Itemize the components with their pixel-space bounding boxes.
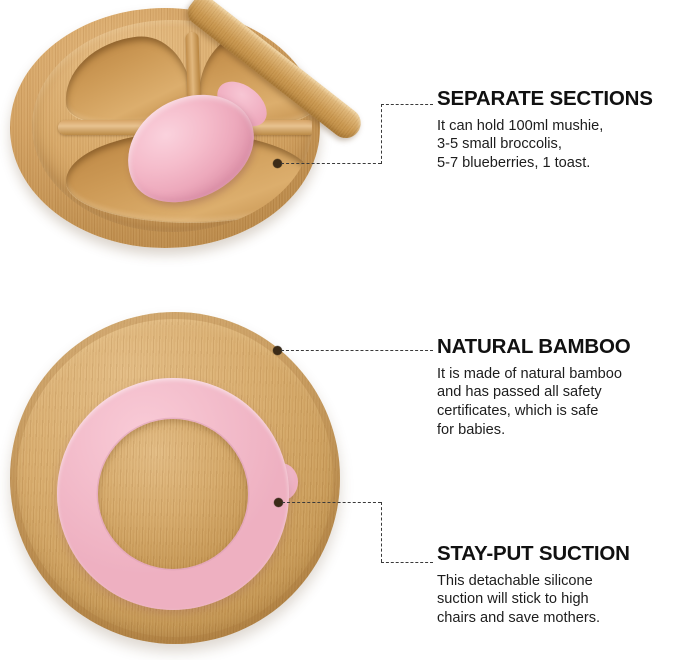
bamboo-grain-texture-center bbox=[98, 419, 248, 569]
plate-body bbox=[10, 8, 320, 248]
leader-line-3-segment-horizontal-lower bbox=[381, 562, 433, 563]
callout-body-stay-put-suction: This detachable silicone suction will st… bbox=[437, 572, 679, 629]
suction-ring-inner-opening bbox=[98, 419, 248, 569]
leader-line-1-segment-horizontal-upper bbox=[381, 104, 433, 105]
product-photo-plate-top-view bbox=[0, 2, 360, 287]
callout-body-line: 3-5 small broccolis, bbox=[437, 135, 679, 154]
callout-title-natural-bamboo: NATURAL BAMBOO bbox=[437, 336, 679, 358]
leader-line-3-segment-horizontal-upper bbox=[282, 502, 381, 503]
product-photo-plate-underside-view bbox=[2, 300, 352, 658]
callout-body-line: 5-7 blueberries, 1 toast. bbox=[437, 154, 679, 173]
callout-block-stay-put-suction: STAY-PUT SUCTION This detachable silicon… bbox=[437, 543, 679, 628]
callout-body-line: It can hold 100ml mushie, bbox=[437, 117, 679, 136]
divider-ridge-horizontal bbox=[58, 120, 312, 135]
callout-body-line: suction will stick to high bbox=[437, 590, 679, 609]
callout-body-line: This detachable silicone bbox=[437, 572, 679, 591]
callout-body-line: It is made of natural bamboo bbox=[437, 365, 679, 384]
leader-line-3-segment-vertical bbox=[381, 502, 382, 562]
plate-inner-face bbox=[32, 20, 312, 232]
callout-body-separate-sections: It can hold 100ml mushie, 3-5 small broc… bbox=[437, 117, 679, 174]
infographic-stage: SEPARATE SECTIONS It can hold 100ml mush… bbox=[0, 0, 679, 660]
callout-body-line: and has passed all safety bbox=[437, 383, 679, 402]
leader-line-2-segment-horizontal bbox=[281, 350, 433, 351]
callout-title-separate-sections: SEPARATE SECTIONS bbox=[437, 88, 679, 110]
plate-underside-assembly bbox=[2, 300, 352, 658]
callout-block-natural-bamboo: NATURAL BAMBOO It is made of natural bam… bbox=[437, 336, 679, 440]
callout-body-line: for babies. bbox=[437, 421, 679, 440]
compartment-bottom bbox=[66, 132, 312, 222]
callout-body-line: certificates, which is safe bbox=[437, 402, 679, 421]
plate-top-assembly bbox=[0, 2, 360, 287]
callout-body-natural-bamboo: It is made of natural bamboo and has pas… bbox=[437, 365, 679, 441]
leader-line-1-segment-horizontal-lower bbox=[281, 163, 381, 164]
callout-block-separate-sections: SEPARATE SECTIONS It can hold 100ml mush… bbox=[437, 88, 679, 173]
callout-title-stay-put-suction: STAY-PUT SUCTION bbox=[437, 543, 679, 565]
leader-line-1-segment-vertical bbox=[381, 104, 382, 164]
callout-body-line: chairs and save mothers. bbox=[437, 609, 679, 628]
